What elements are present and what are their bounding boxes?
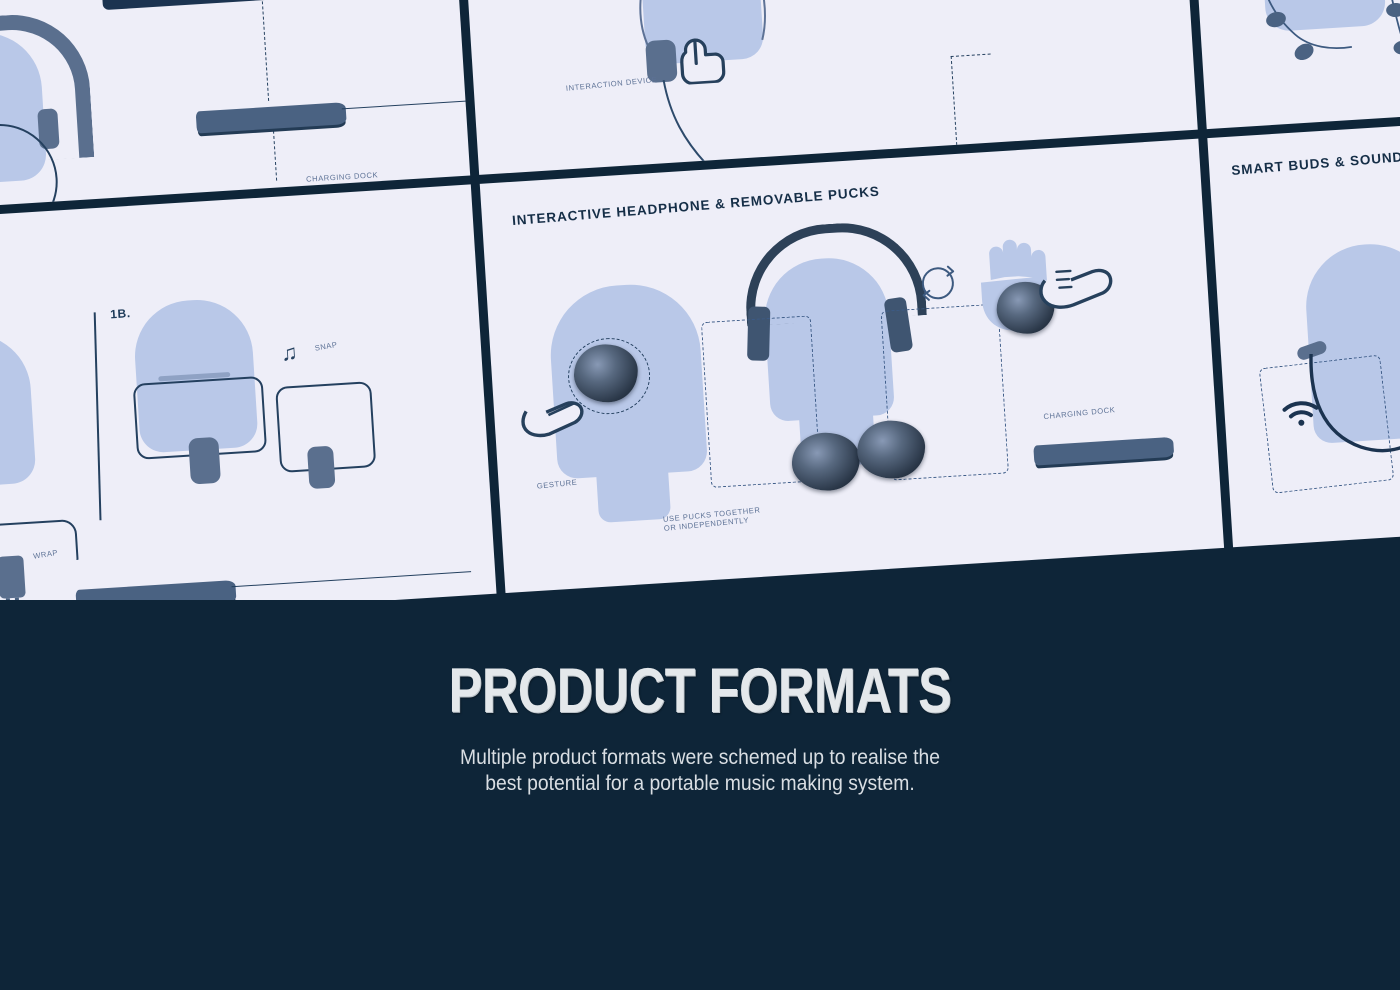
charging-dock-icon — [75, 580, 236, 600]
panel-grid: HEADPHONE PENDANT — [0, 0, 1400, 600]
pointing-hand-icon — [516, 377, 590, 444]
label-charging-dock: CHARGING DOCK — [306, 170, 379, 184]
label-interaction-device: INTERACTION DEVICE — [566, 75, 658, 93]
rotate-arrows-icon — [913, 257, 962, 306]
page-subtitle-line-1: Multiple product formats were schemed up… — [56, 745, 1344, 771]
panel-touchpoints-cable: TOUCHPOINTS ALONG WIRED CABLE — [1181, 0, 1400, 129]
wrap-module-pins — [15, 597, 20, 600]
panel-pendant-headphone: HEADPHONE PENDANT — [0, 0, 470, 213]
device-phone-cable — [659, 75, 725, 175]
cable-with-touchpoints — [1234, 0, 1400, 129]
connection-dashed-line — [273, 131, 277, 181]
snap-module-icon — [188, 436, 221, 484]
charging-dock-icon — [1033, 436, 1174, 465]
label-charging-dock: CHARGING DOCK — [1043, 405, 1116, 421]
panel-smart-buds-cartridges: SMART BUDS & SOUND CARTRIDGES BASS RYTHM — [1207, 117, 1400, 547]
panel-inner-divider — [94, 312, 102, 520]
caption-block: PRODUCT FORMATS Multiple product formats… — [0, 660, 1400, 798]
section-title-smart-buds-cartridges: SMART BUDS & SOUND CARTRIDGES — [1231, 141, 1400, 178]
label-snap: SNAP — [314, 339, 338, 352]
wrap-module-loose-icon — [0, 555, 26, 599]
pointing-hand-icon — [1033, 241, 1121, 317]
neckband-cable — [1305, 335, 1400, 527]
panel-headphone-wrap-snap: HEADPHONE WRAP/SNAP WRAP 1B. — [0, 184, 497, 600]
label-use-pucks-together-or-independently: USE PUCKS TOGETHER OR INDEPENDENTLY — [663, 504, 770, 533]
phone-laptop-dashed-line — [951, 54, 991, 58]
dock-guide-line — [342, 96, 470, 109]
dock-guide-line — [231, 571, 471, 587]
wrap-band-icon — [0, 369, 95, 570]
page-subtitle: Multiple product formats were schemed up… — [56, 745, 1344, 798]
snap-module-loose-icon — [307, 445, 336, 489]
section-title-interactive-headphone-pucks: INTERACTIVE HEADPHONE & REMOVABLE PUCKS — [512, 183, 881, 228]
label-step-1b: 1B. — [110, 306, 131, 322]
head-jaw-icon — [593, 422, 671, 522]
music-note-icon: ♫ — [280, 341, 298, 364]
label-gesture: GESTURE — [536, 477, 577, 490]
charging-dock-icon — [196, 102, 347, 133]
laptop-base — [103, 0, 335, 10]
panel-interactive-headphone-pucks: INTERACTIVE HEADPHONE & REMOVABLE PUCKS … — [480, 138, 1224, 593]
page-subtitle-line-2: best potential for a portable music maki… — [56, 771, 1344, 797]
page-title: PRODUCT FORMATS — [140, 660, 1260, 723]
laptop-dock-dashed-line — [261, 0, 269, 101]
product-formats-artboard: HEADPHONE PENDANT — [0, 0, 1400, 600]
wrap-module-pins — [6, 598, 11, 600]
